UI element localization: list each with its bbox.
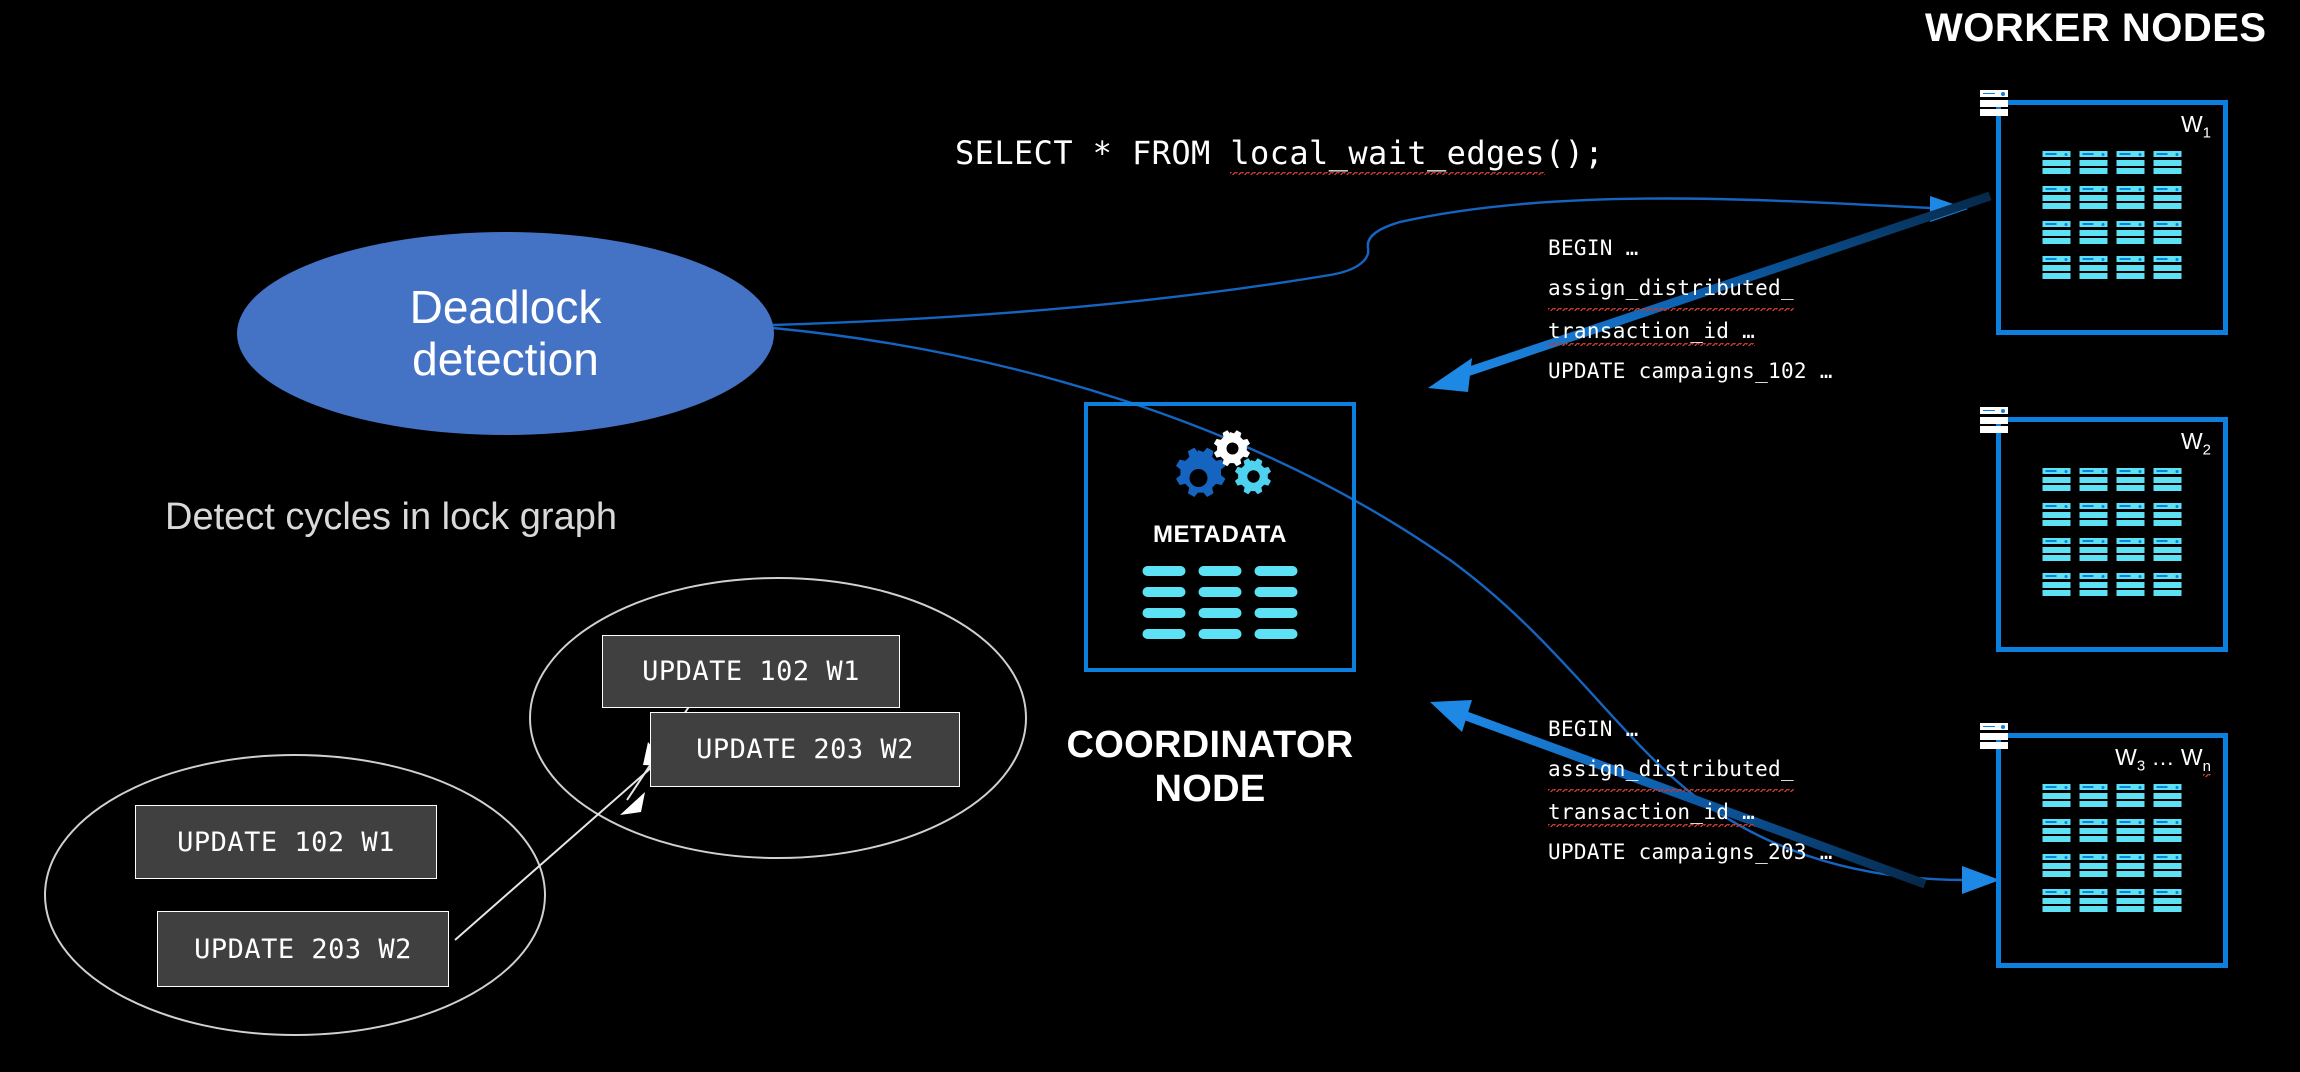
metadata-bar — [1255, 608, 1298, 618]
txn-line-assign: assign_distributed_ — [1548, 749, 1794, 792]
server-icon — [2080, 503, 2108, 526]
server-icon — [2043, 503, 2071, 526]
metadata-bar — [1255, 629, 1298, 639]
txn-line-txnid: transaction_id … — [1548, 319, 1755, 346]
txn-line-begin: BEGIN … — [1548, 228, 1833, 268]
server-icon — [2080, 573, 2108, 596]
gear-cyan-hole — [1247, 470, 1259, 482]
server-icon — [2117, 573, 2145, 596]
server-icon — [2080, 256, 2108, 279]
worker-server-grid — [2043, 151, 2182, 279]
server-icon — [2117, 151, 2145, 174]
deadlock-detection-ellipse: Deadlock detection — [237, 232, 774, 435]
server-icon — [2043, 256, 2071, 279]
lock-node-box: UPDATE 203 W2 — [157, 911, 449, 987]
server-icon — [2154, 503, 2182, 526]
deadlock-label-line2: detection — [410, 334, 602, 386]
metadata-bar — [1143, 566, 1186, 576]
server-icon — [2154, 538, 2182, 561]
transaction-snippet-102: BEGIN … assign_distributed_ transaction_… — [1548, 228, 1833, 391]
server-icon — [2043, 221, 2071, 244]
server-icon — [2117, 784, 2145, 807]
sql-suffix: (); — [1545, 134, 1604, 172]
server-icon — [2154, 468, 2182, 491]
server-icon — [2117, 889, 2145, 912]
metadata-label: METADATA — [1088, 521, 1352, 549]
metadata-bar — [1143, 629, 1186, 639]
server-icon — [2043, 151, 2071, 174]
server-icon — [2043, 186, 2071, 209]
diagram-canvas: WORKER NODES SELECT * FROM local_wait_ed… — [0, 0, 2300, 1072]
server-icon — [2154, 256, 2182, 279]
server-icon — [2080, 784, 2108, 807]
server-icon — [2117, 221, 2145, 244]
metadata-bar — [1199, 608, 1242, 618]
server-icon — [2080, 151, 2108, 174]
worker-node-w1: W1 — [1996, 100, 2228, 335]
server-icon — [2154, 573, 2182, 596]
metadata-bar — [1255, 566, 1298, 576]
server-icon — [2080, 186, 2108, 209]
lock-cycle-ellipse-lower — [45, 755, 545, 1035]
lock-node-box: UPDATE 102 W1 — [602, 635, 900, 708]
server-icon — [2043, 784, 2071, 807]
worker-node-label: W1 — [2181, 111, 2211, 142]
txn-line-begin: BEGIN … — [1548, 709, 1833, 749]
server-icon — [2043, 538, 2071, 561]
server-icon — [2080, 468, 2108, 491]
server-icon — [2043, 819, 2071, 842]
server-icon — [2117, 854, 2145, 877]
server-icon — [2117, 468, 2145, 491]
server-badge-icon — [1980, 90, 2008, 116]
server-icon — [2080, 538, 2108, 561]
transaction-snippet-203: BEGIN … assign_distributed_ transaction_… — [1548, 709, 1833, 872]
worker-nodes-title: WORKER NODES — [1925, 6, 2267, 51]
arrowhead-w3 — [1962, 866, 2000, 894]
gear-white-hole — [1227, 443, 1239, 455]
server-icon — [2043, 889, 2071, 912]
metadata-bar — [1143, 587, 1186, 597]
server-badge-icon — [1980, 407, 2008, 433]
lock-node-box: UPDATE 203 W2 — [650, 712, 960, 787]
server-icon — [2117, 503, 2145, 526]
server-icon — [2080, 221, 2108, 244]
coordinator-title-line2: NODE — [1030, 767, 1390, 811]
server-icon — [2117, 819, 2145, 842]
metadata-bar — [1255, 587, 1298, 597]
server-icon — [2117, 186, 2145, 209]
server-icon — [2080, 854, 2108, 877]
server-icon — [2154, 889, 2182, 912]
worker-node-w3: W3 … Wn — [1996, 733, 2228, 968]
deadlock-detection-label: Deadlock detection — [410, 282, 602, 386]
txn-line-txnid: transaction_id … — [1548, 800, 1755, 827]
worker-node-w2: W2 — [1996, 417, 2228, 652]
lock-node-box: UPDATE 102 W1 — [135, 805, 437, 879]
server-icon — [2154, 151, 2182, 174]
worker-server-grid — [2043, 784, 2182, 912]
gears-icon — [1154, 428, 1286, 513]
coordinator-node-title: COORDINATOR NODE — [1030, 723, 1390, 811]
gear-large-hole — [1190, 469, 1208, 487]
server-icon — [2117, 538, 2145, 561]
server-icon — [2154, 186, 2182, 209]
detect-cycles-caption: Detect cycles in lock graph — [165, 496, 617, 539]
coordinator-node-panel: METADATA — [1084, 402, 1356, 672]
metadata-bar — [1199, 587, 1242, 597]
server-icon — [2154, 854, 2182, 877]
txn-line-update: UPDATE campaigns_102 … — [1548, 351, 1833, 391]
deadlock-label-line1: Deadlock — [410, 282, 602, 334]
metadata-bar — [1143, 608, 1186, 618]
server-icon — [2117, 256, 2145, 279]
server-icon — [2154, 221, 2182, 244]
server-icon — [2080, 889, 2108, 912]
metadata-bar — [1199, 629, 1242, 639]
server-icon — [2043, 573, 2071, 596]
sql-function-name: local_wait_edges — [1230, 134, 1545, 175]
server-icon — [2154, 784, 2182, 807]
txn-line-update: UPDATE campaigns_203 … — [1548, 832, 1833, 872]
metadata-bar — [1199, 566, 1242, 576]
metadata-bars-grid — [1143, 566, 1298, 639]
server-icon — [2043, 854, 2071, 877]
server-badge-icon — [1980, 723, 2008, 749]
coordinator-title-line1: COORDINATOR — [1030, 723, 1390, 767]
worker-server-grid — [2043, 468, 2182, 596]
txn-line-assign: assign_distributed_ — [1548, 268, 1794, 311]
worker-node-label: W2 — [2181, 428, 2211, 459]
server-icon — [2080, 819, 2108, 842]
lock-edge-up — [455, 742, 668, 940]
arrowhead-w1 — [1930, 196, 1968, 222]
server-icon — [2043, 468, 2071, 491]
worker-node-label: W3 … Wn — [2115, 744, 2211, 775]
server-icon — [2154, 819, 2182, 842]
sql-prefix: SELECT * FROM — [955, 134, 1230, 172]
sql-statement: SELECT * FROM local_wait_edges(); — [955, 134, 1604, 172]
